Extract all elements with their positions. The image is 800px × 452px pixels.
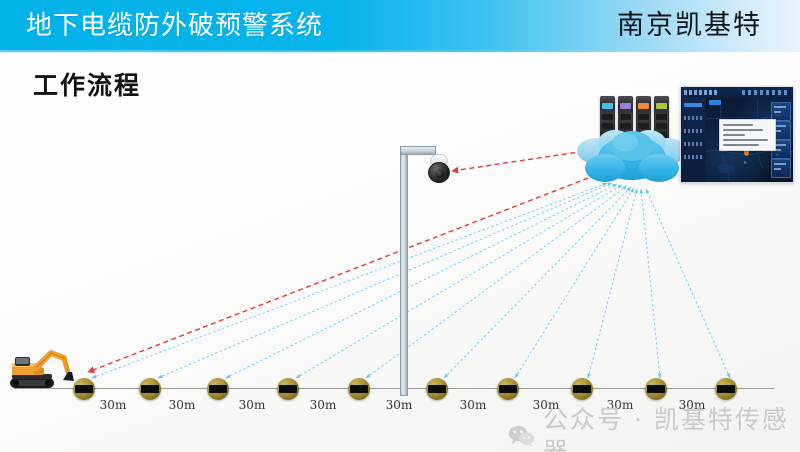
distance-label: 30m [386,398,413,412]
dashboard-sidebar-item [684,129,702,133]
dashboard-sidebar-item [684,103,702,107]
distance-label: 30m [239,398,266,412]
dashboard-logo [684,90,718,95]
dashboard-map-tab[interactable] [709,100,721,105]
distance-label: 30m [169,398,196,412]
dashboard-sidebar [681,98,706,182]
dashboard-sidebar-item [684,116,702,120]
monitoring-dashboard-screenshot[interactable] [680,86,794,183]
sensor-node[interactable] [139,378,161,400]
sensor-node[interactable] [571,378,593,400]
slide-root: 地下电缆防外破预警系统 南京凯基特 工作流程 [0,0,800,452]
sensor-data-links [92,183,730,378]
sensor-node[interactable] [715,378,737,400]
dashboard-side-panel[interactable] [771,159,791,178]
sensor-node[interactable] [497,378,519,400]
dashboard-sidebar-item [684,155,702,159]
sensor-node[interactable] [73,378,95,400]
camera-lens [435,169,445,179]
ptz-camera-icon[interactable] [428,154,450,184]
camera-dome [428,162,450,183]
watermark-text: 公众号 · 凯基特传感器 [543,404,800,452]
wechat-icon [508,425,535,447]
pole-mast [400,154,408,396]
excavator-tracks [10,374,54,388]
distance-label: 30m [460,398,487,412]
sensor-node[interactable] [277,378,299,400]
distance-label: 30m [100,398,127,412]
cloud-platform [575,96,690,191]
sensor-node[interactable] [645,378,667,400]
sensor-node[interactable] [207,378,229,400]
alert-links [88,150,596,372]
watermark: 公众号 · 凯基特传感器 [508,404,800,452]
dashboard-sidebar-item [684,142,702,146]
cloud-icon [575,96,690,191]
dashboard-topbar-controls [742,90,790,95]
sensor-node[interactable] [426,378,448,400]
dashboard-info-popup [719,119,776,151]
sensor-node[interactable] [348,378,370,400]
distance-label: 30m [310,398,337,412]
